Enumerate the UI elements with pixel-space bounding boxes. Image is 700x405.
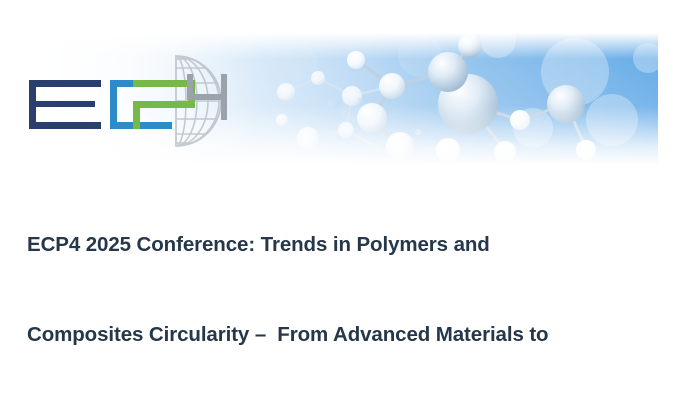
logo-letter-e — [29, 80, 101, 129]
conference-banner-page: ECP4 2025 Conference: Trends in Polymers… — [0, 0, 700, 405]
ecp4-logo-mark — [26, 52, 286, 150]
title-line-1: ECP4 2025 Conference: Trends in Polymers… — [27, 230, 647, 260]
title-line-2: Composites Circularity – From Advanced M… — [27, 320, 647, 350]
page-title: ECP4 2025 Conference: Trends in Polymers… — [27, 170, 647, 405]
conference-text-block: ECP4 2025 Conference: Trends in Polymers… — [27, 170, 647, 405]
ecp4-logo — [26, 52, 286, 150]
